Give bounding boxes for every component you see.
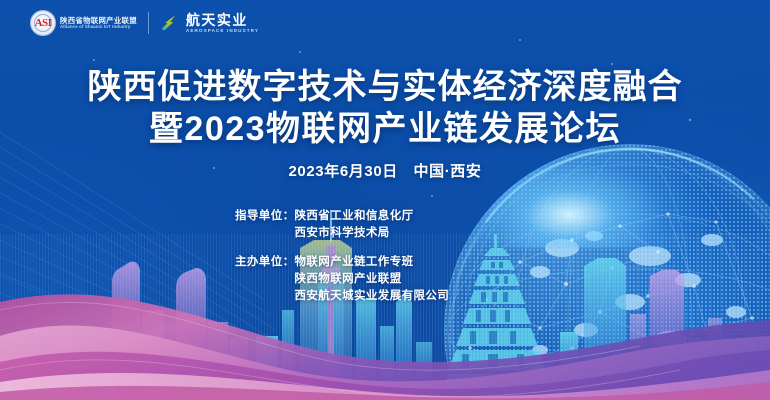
event-meta: 2023年6月30日 中国·西安: [0, 160, 770, 181]
org-values: 陕西省工业和信息化厅 西安市科学技术局: [295, 208, 414, 242]
aerospace-logo[interactable]: 航天实业 AEROSPACE INDUSTRY: [160, 13, 259, 34]
alliance-name-cn: 陕西省物联网产业联盟: [60, 17, 137, 24]
org-value: 西安市科学技术局: [295, 225, 414, 242]
org-value: 物联网产业链工作专班: [295, 254, 450, 271]
org-values: 物联网产业链工作专班 陕西物联网产业联盟 西安航天城实业发展有限公司: [295, 254, 450, 305]
aerospace-name-cn: 航天实业: [186, 13, 259, 27]
alliance-name-en: Alliance of Shaanxi IoT Industry: [60, 25, 137, 29]
conference-banner: ASI 陕西省物联网产业联盟 Alliance of Shaanxi IoT I…: [0, 0, 770, 400]
aerospace-name-en: AEROSPACE INDUSTRY: [186, 29, 259, 34]
event-date: 2023年6月30日: [288, 163, 397, 180]
event-location: 中国·西安: [414, 163, 482, 180]
org-value: 陕西省工业和信息化厅: [295, 208, 414, 225]
logo-bar: ASI 陕西省物联网产业联盟 Alliance of Shaanxi IoT I…: [30, 10, 259, 36]
organization-list: 指导单位： 陕西省工业和信息化厅 西安市科学技术局 主办单位： 物联网产业链工作…: [235, 208, 535, 305]
org-block-host: 主办单位： 物联网产业链工作专班 陕西物联网产业联盟 西安航天城实业发展有限公司: [235, 254, 535, 305]
aerospace-swoosh-icon: [160, 13, 180, 33]
page-title: 陕西促进数字技术与实体经济深度融合 暨2023物联网产业链发展论坛: [0, 66, 770, 150]
meta-separator: [398, 163, 414, 180]
asi-circle-emblem-icon: ASI: [30, 10, 56, 36]
org-block-guidance: 指导单位： 陕西省工业和信息化厅 西安市科学技术局: [235, 208, 535, 242]
alliance-logo[interactable]: ASI 陕西省物联网产业联盟 Alliance of Shaanxi IoT I…: [30, 10, 137, 36]
org-label: 指导单位：: [235, 208, 295, 225]
asi-mark-text: ASI: [35, 18, 52, 29]
title-line-2: 暨2023物联网产业链发展论坛: [0, 108, 770, 150]
org-label: 主办单位：: [235, 254, 295, 271]
org-value: 陕西物联网产业联盟: [295, 271, 450, 288]
banner-content: 陕西促进数字技术与实体经济深度融合 暨2023物联网产业链发展论坛 2023年6…: [0, 0, 770, 400]
title-line-1: 陕西促进数字技术与实体经济深度融合: [0, 66, 770, 108]
vertical-divider-icon: [148, 12, 149, 34]
org-value: 西安航天城实业发展有限公司: [295, 288, 450, 305]
